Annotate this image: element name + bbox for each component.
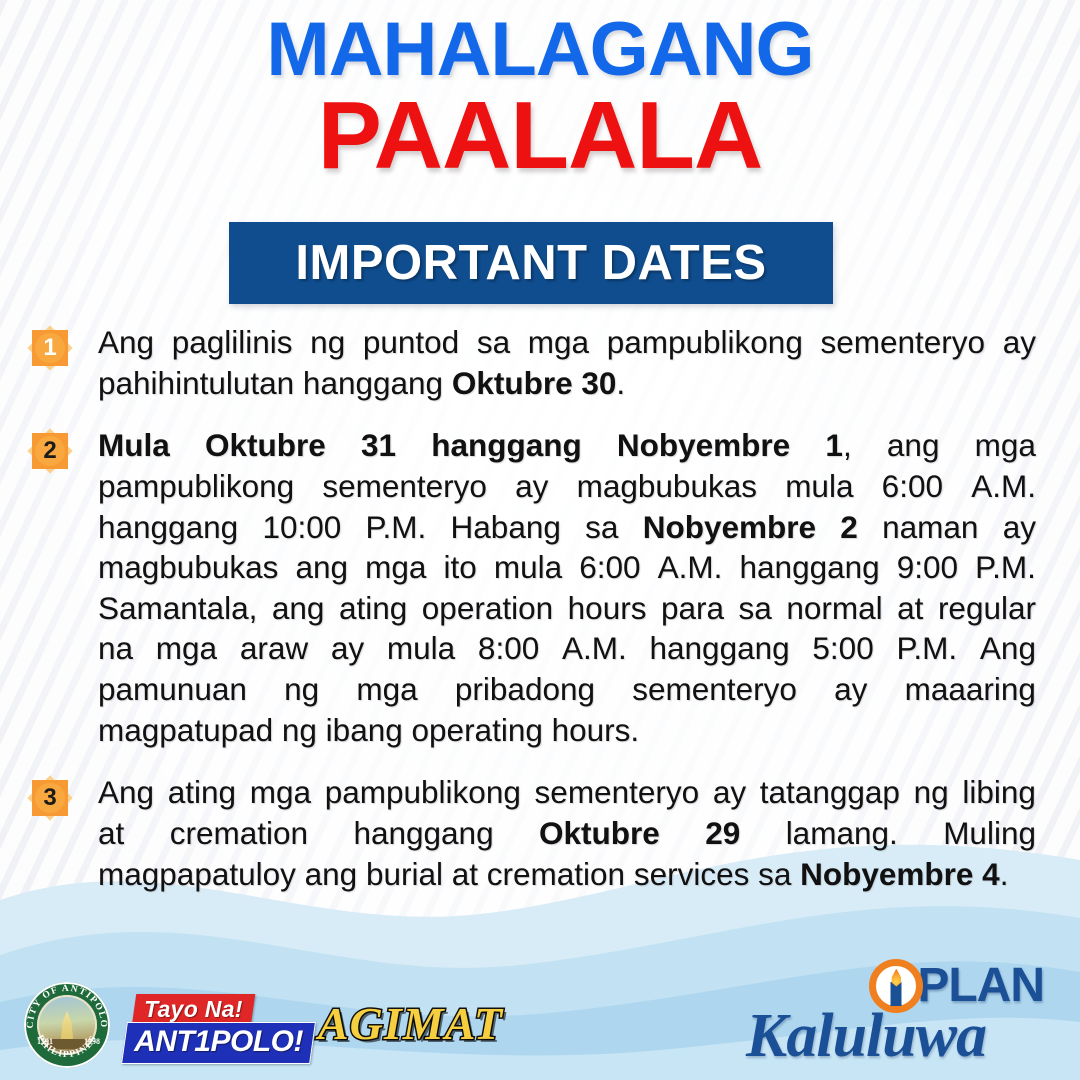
item-paragraph: Angatingmgapampublikongsementeryoaytatan…: [98, 772, 1036, 894]
word: 10:00: [262, 507, 341, 548]
word: mga: [250, 772, 311, 813]
svg-text:CITY OF ANTIPOLO: CITY OF ANTIPOLO: [26, 984, 108, 1029]
word: araw: [240, 628, 308, 669]
word: sa: [585, 507, 618, 548]
word: 1,: [825, 425, 851, 466]
word: hanggang: [98, 507, 238, 548]
word: normal: [786, 588, 882, 629]
word: Oktubre: [539, 813, 660, 854]
word: sa: [739, 588, 772, 629]
word: Ang: [98, 772, 154, 813]
word: ay: [331, 628, 364, 669]
word: ng: [310, 322, 345, 363]
emphasis-text: Nobyembre 4: [800, 856, 1000, 892]
word: magbubukas: [98, 547, 278, 588]
word: ay: [515, 466, 548, 507]
word: mula: [387, 628, 455, 669]
paragraph-line: atcremationhanggangOktubre29lamang.Mulin…: [98, 813, 1036, 854]
word: hanggang: [650, 628, 790, 669]
word: maaaring: [905, 669, 1036, 710]
word: lamang.: [786, 813, 898, 854]
paragraph-line: pamunuanngmgapribadongsementeryoaymaaari…: [98, 669, 1036, 710]
paragraph-line: namgaarawaymula8:00A.M.hanggang5:00P.M.A…: [98, 628, 1036, 669]
word: pampublikong: [98, 466, 294, 507]
word: cremation: [170, 813, 308, 854]
title-line-paalala: PAALALA: [0, 89, 1080, 183]
emphasis-text: Oktubre 30: [452, 365, 617, 401]
word: para: [661, 588, 724, 629]
paragraph-line: pampublikongsementeryoaymagbubukasmula6:…: [98, 466, 1036, 507]
word: 9:00: [897, 547, 958, 588]
word: 31: [361, 425, 396, 466]
antipolo-city-seal-icon: CITY OF ANTIPOLO PHILIPPINES 1591 1998: [24, 982, 110, 1068]
svg-text:1591: 1591: [37, 1037, 53, 1046]
word: ng: [284, 669, 319, 710]
word: hanggang: [740, 547, 880, 588]
item-paragraph: MulaOktubre31hanggangNobyembre1,angmgapa…: [98, 425, 1036, 750]
word: 29: [705, 813, 740, 854]
word: Nobyembre: [643, 507, 816, 548]
word: at: [897, 588, 923, 629]
word: sementeryo: [322, 466, 487, 507]
tayo-na-text: Tayo Na!: [144, 996, 243, 1023]
paragraph-line: pahihintulutan hanggang Oktubre 30.: [98, 363, 1036, 404]
word: 6:00: [579, 547, 640, 588]
banner-label: IMPORTANT DATES: [295, 235, 766, 291]
word: ay: [1003, 322, 1036, 363]
numbered-item: 1Angpaglilinisngpuntodsamgapampublikongs…: [0, 322, 1080, 403]
footer-logos: CITY OF ANTIPOLO PHILIPPINES 1591 1998 T…: [0, 948, 1080, 1080]
word: naman: [882, 507, 978, 548]
word: mula: [785, 466, 853, 507]
paragraph-line: Samantala,angatingoperationhoursparasano…: [98, 588, 1036, 629]
word: ay: [713, 772, 746, 813]
word: A.M.: [562, 628, 627, 669]
text: .: [1000, 856, 1009, 892]
word: P.M.: [896, 628, 957, 669]
word: P.M.: [975, 547, 1036, 588]
word: mga: [156, 628, 217, 669]
word: operation: [422, 588, 553, 629]
title-line-mahalagang: MAHALAGANG: [0, 14, 1080, 87]
word: A.M.: [658, 547, 723, 588]
word: magbubukas: [577, 466, 757, 507]
word: 8:00: [478, 628, 539, 669]
word: mga: [365, 547, 426, 588]
word: hanggang: [353, 813, 493, 854]
word: puntod: [363, 322, 459, 363]
seal-ring-text: CITY OF ANTIPOLO PHILIPPINES 1591 1998: [24, 982, 110, 1068]
word: A.M.: [971, 466, 1036, 507]
word: hanggang: [431, 425, 582, 466]
numbered-item: 3Angatingmgapampublikongsementeryoaytata…: [0, 772, 1080, 894]
poster-title: MAHALAGANG PAALALA: [0, 14, 1080, 183]
word: paglilinis: [172, 322, 293, 363]
kaluluwa-text: Kaluluwa: [746, 1001, 986, 1072]
word: regular: [938, 588, 1036, 629]
word: ang: [272, 588, 325, 629]
word: Nobyembre: [617, 425, 790, 466]
word: mga: [975, 425, 1036, 466]
word: mga: [528, 322, 589, 363]
item-number: 3: [30, 778, 70, 818]
item-number-badge: 3: [30, 778, 70, 818]
numbered-items-list: 1Angpaglilinisngpuntodsamgapampublikongs…: [0, 322, 1080, 894]
numbered-item: 2MulaOktubre31hanggangNobyembre1,angmgap…: [0, 425, 1080, 750]
item-number: 2: [30, 431, 70, 471]
item-number-badge: 1: [30, 328, 70, 368]
paragraph-line: hanggang10:00P.M.HabangsaNobyembre2naman…: [98, 507, 1036, 548]
word: libing: [962, 772, 1036, 813]
word: tatanggap: [760, 772, 900, 813]
word: sementeryo: [820, 322, 985, 363]
word: sa: [477, 322, 510, 363]
antipolo-text: ANT1POLO!: [134, 1025, 303, 1059]
word: ating: [168, 772, 236, 813]
text: pahihintulutan hanggang: [98, 365, 452, 401]
word: hours: [568, 588, 647, 629]
word: 6:00: [882, 466, 943, 507]
paragraph-line: Angpaglilinisngpuntodsamgapampublikongse…: [98, 322, 1036, 363]
text: magpapatuloy ang burial at cremation ser…: [98, 856, 800, 892]
paragraph-line: magpapatuloy ang burial at cremation ser…: [98, 854, 1036, 895]
word: sementeryo: [632, 669, 797, 710]
word: ng: [914, 772, 949, 813]
paragraph-line: Angatingmgapampublikongsementeryoaytatan…: [98, 772, 1036, 813]
word: ito: [444, 547, 477, 588]
item-paragraph: Angpaglilinisngpuntodsamgapampublikongse…: [98, 322, 1036, 403]
text: .: [616, 365, 625, 401]
word: ang: [295, 547, 348, 588]
poster-root: MAHALAGANG PAALALA IMPORTANT DATES 1Angp…: [0, 0, 1080, 1080]
word: sementeryo: [535, 772, 700, 813]
word: at: [98, 813, 124, 854]
svg-text:1998: 1998: [84, 1037, 100, 1046]
word: Oktubre: [205, 425, 326, 466]
word: pribadong: [455, 669, 595, 710]
word: ay: [1003, 507, 1036, 548]
text: magpatupad ng ibang operating hours.: [98, 712, 639, 748]
word: pampublikong: [607, 322, 803, 363]
paragraph-line: MulaOktubre31hanggangNobyembre1,angmga: [98, 425, 1036, 466]
word: ang: [887, 425, 940, 466]
word: 5:00: [812, 628, 873, 669]
word: ating: [339, 588, 407, 629]
word: ay: [834, 669, 867, 710]
word: Ang: [98, 322, 154, 363]
paragraph-line: magbubukasangmgaitomula6:00A.M.hanggang9…: [98, 547, 1036, 588]
tayo-na-antipolo-logo: Tayo Na! ANT1POLO!: [124, 994, 300, 1056]
word: pampublikong: [325, 772, 521, 813]
left-logo-group: CITY OF ANTIPOLO PHILIPPINES 1591 1998 T…: [24, 982, 503, 1068]
word: Muling: [943, 813, 1036, 854]
item-number-badge: 2: [30, 431, 70, 471]
word: mula: [494, 547, 562, 588]
word: pamunuan: [98, 669, 247, 710]
oplan-kaluluwa-logo: PLAN Kaluluwa: [746, 956, 1046, 1072]
word: Mula: [98, 425, 170, 466]
paragraph-line: magpatupad ng ibang operating hours.: [98, 710, 1036, 751]
antipolo-badge: ANT1POLO!: [121, 1022, 316, 1064]
agimat-logo: AGIMAT: [318, 997, 503, 1050]
word: mga: [356, 669, 417, 710]
word: P.M.: [366, 507, 427, 548]
word: Samantala,: [98, 588, 257, 629]
item-number: 1: [30, 328, 70, 368]
important-dates-banner: IMPORTANT DATES: [229, 222, 833, 304]
word: Ang: [980, 628, 1036, 669]
word: Habang: [451, 507, 561, 548]
word: na: [98, 628, 133, 669]
word: 2: [840, 507, 858, 548]
